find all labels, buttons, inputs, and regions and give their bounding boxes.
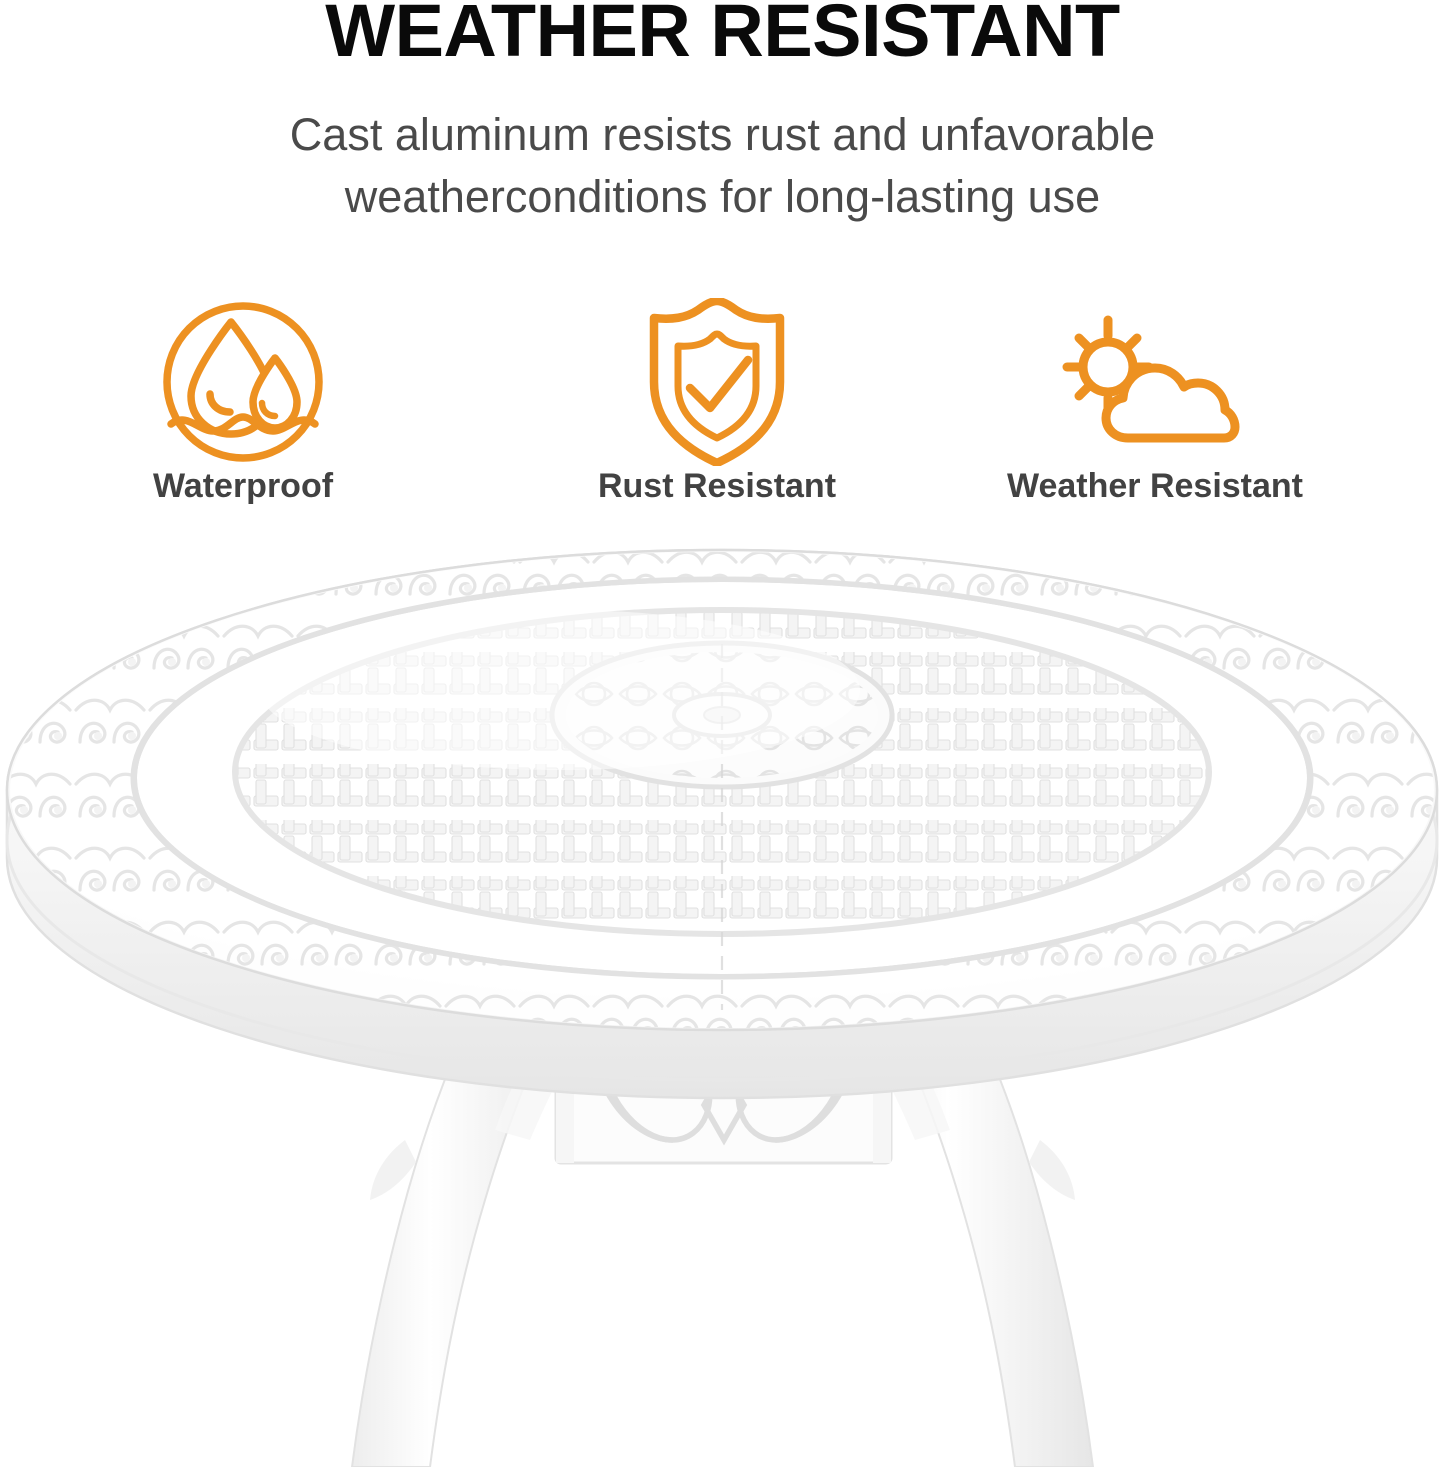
product-image	[0, 540, 1445, 1467]
product-feature-banner: WEATHER RESISTANT Cast aluminum resists …	[0, 0, 1445, 1467]
subtitle: Cast aluminum resists rust and unfavorab…	[140, 104, 1305, 228]
table-top	[0, 540, 1445, 1098]
feature-item-rust-resistant: Rust Resistant	[552, 296, 882, 536]
feature-label: Waterproof	[78, 468, 408, 505]
feature-list: Waterproof Rust Resistant	[0, 296, 1445, 536]
sun-cloud-icon	[990, 296, 1320, 468]
shield-check-icon	[552, 296, 882, 468]
feature-label: Weather Resistant	[990, 468, 1320, 505]
page-title: WEATHER RESISTANT	[0, 0, 1445, 68]
subtitle-line-1: Cast aluminum resists rust and unfavorab…	[140, 104, 1305, 166]
feature-label: Rust Resistant	[552, 468, 882, 505]
water-drops-circle-icon	[78, 296, 408, 468]
feature-item-waterproof: Waterproof	[78, 296, 408, 536]
subtitle-line-2: weatherconditions for long-lasting use	[140, 166, 1305, 228]
feature-item-weather-resistant: Weather Resistant	[990, 296, 1320, 536]
